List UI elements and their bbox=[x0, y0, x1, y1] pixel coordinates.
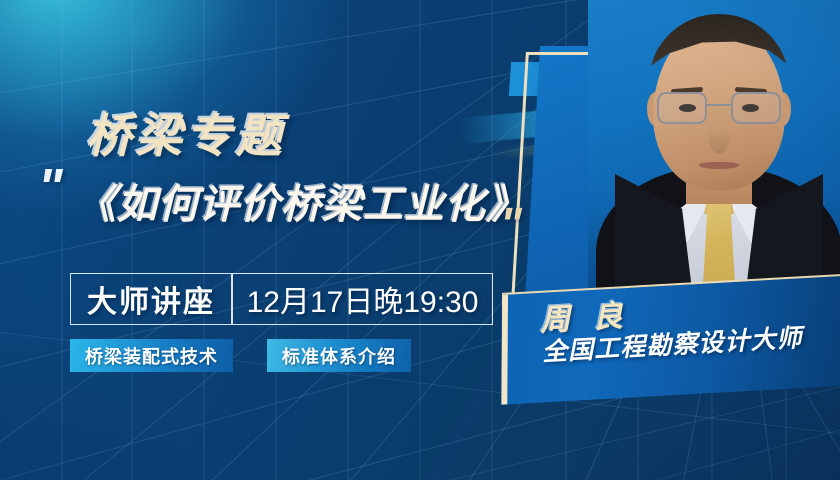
poster-canvas: 周 良 全国工程勘察设计大师 桥梁专题 " 《如何评价桥梁工业化》 " 大师讲座… bbox=[0, 0, 840, 480]
topic-tag-2: 标准体系介绍 bbox=[267, 339, 411, 372]
quote-close-icon: " bbox=[500, 206, 519, 243]
topic-tag-1: 桥梁装配式技术 bbox=[70, 339, 233, 372]
subtitle-group: " 《如何评价桥梁工业化》 " bbox=[38, 168, 538, 244]
quote-open-icon: " bbox=[38, 168, 60, 210]
lecture-datetime: 12月17日晚19:30 bbox=[233, 274, 493, 324]
speaker-portrait bbox=[588, 0, 840, 288]
page-title: 桥梁专题 bbox=[86, 100, 286, 166]
speaker-nameplate: 周 良 全国工程勘察设计大师 bbox=[501, 273, 840, 404]
subtitle: 《如何评价桥梁工业化》 bbox=[76, 172, 527, 230]
lecture-category: 大师讲座 bbox=[71, 274, 231, 324]
lecture-info-bar: 大师讲座 12月17日晚19:30 bbox=[70, 273, 493, 325]
topic-tag-list: 桥梁装配式技术 标准体系介绍 bbox=[70, 339, 411, 372]
